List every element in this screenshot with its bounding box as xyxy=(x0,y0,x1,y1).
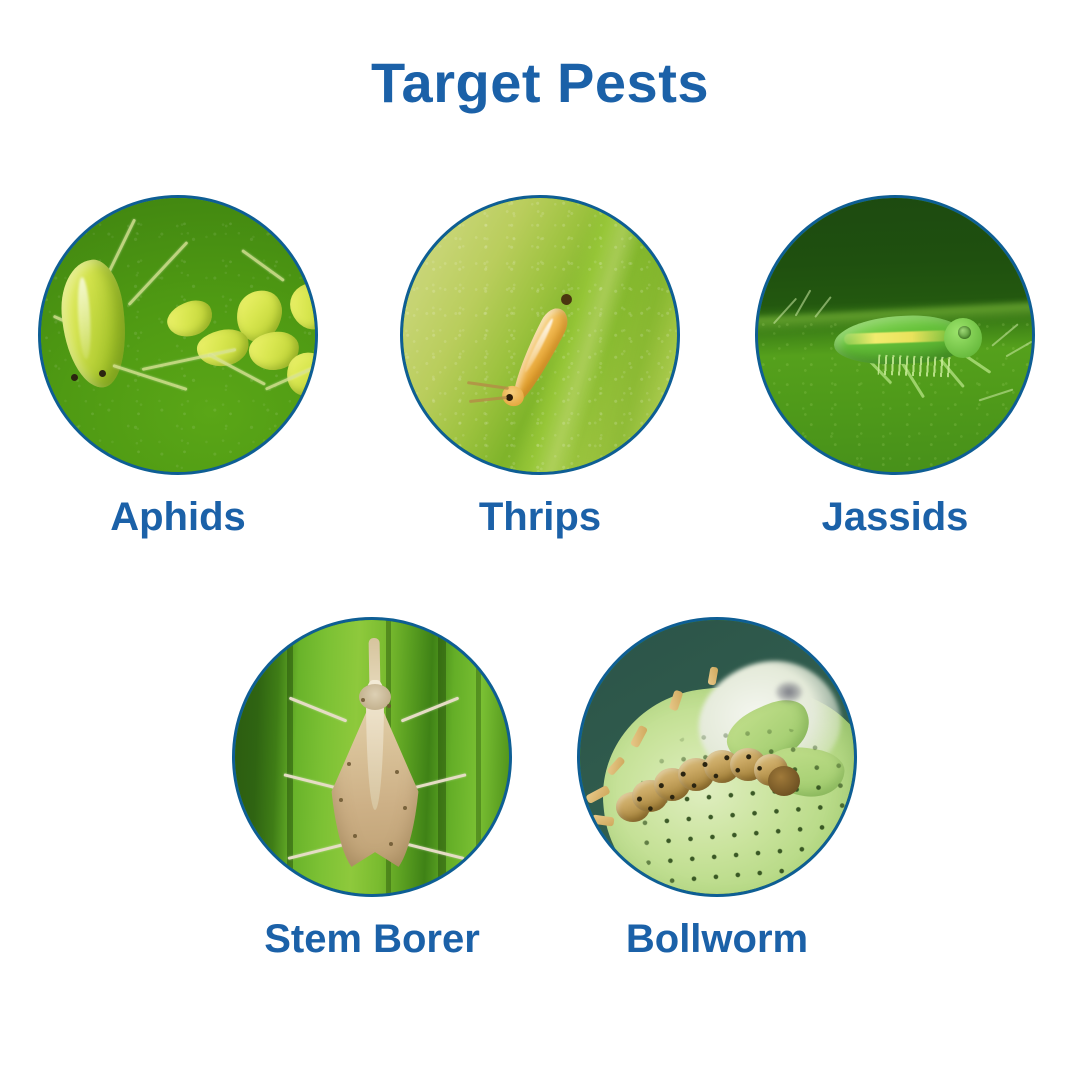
pest-card-thrips[interactable]: Thrips xyxy=(400,195,680,539)
stem-borer-photo-inner xyxy=(235,620,509,894)
moth-wing-spot xyxy=(403,806,407,810)
pest-card-jassids[interactable]: Jassids xyxy=(755,195,1035,539)
aphids-photo-inner xyxy=(41,198,315,472)
moth-wing-spot xyxy=(389,842,393,846)
moth-wing-spot xyxy=(347,762,351,766)
aphids-photo[interactable] xyxy=(38,195,318,475)
target-pests-infographic: Target Pests xyxy=(0,0,1080,1080)
cotton-boll-blemish xyxy=(776,682,802,702)
pest-label-aphids: Aphids xyxy=(38,495,318,539)
pest-label-thrips: Thrips xyxy=(400,495,680,539)
moth-wing-spot xyxy=(353,834,357,838)
thrips-photo[interactable] xyxy=(400,195,680,475)
pest-label-jassids: Jassids xyxy=(755,495,1035,539)
aphid-eye xyxy=(71,374,78,381)
leafhopper-eye xyxy=(958,326,971,339)
stem-borer-photo[interactable] xyxy=(232,617,512,897)
bollworm-photo-inner xyxy=(580,620,854,894)
pest-label-stem-borer: Stem Borer xyxy=(232,917,512,961)
moth-wing-spot xyxy=(395,770,399,774)
pest-label-bollworm: Bollworm xyxy=(577,917,857,961)
grass-blade-edge xyxy=(287,620,293,894)
thrips-photo-inner xyxy=(403,198,677,472)
moth-wing-spot xyxy=(361,698,365,702)
jassids-photo-inner xyxy=(758,198,1032,472)
pest-card-aphids[interactable]: Aphids xyxy=(38,195,318,539)
moth-wing-spot xyxy=(339,798,343,802)
leafhopper-tibial-spines xyxy=(878,355,955,378)
pest-card-bollworm[interactable]: Bollworm xyxy=(577,617,857,961)
bollworm-photo[interactable] xyxy=(577,617,857,897)
grass-blade-edge xyxy=(476,620,481,894)
page-title: Target Pests xyxy=(0,52,1080,114)
aphid-eye xyxy=(99,370,106,377)
moth-wing-spot xyxy=(387,704,391,708)
caterpillar-spots xyxy=(614,728,796,824)
pest-card-stem-borer[interactable]: Stem Borer xyxy=(232,617,512,961)
bollworm-caterpillar xyxy=(614,728,796,824)
thrips-eye xyxy=(506,394,513,401)
jassids-photo[interactable] xyxy=(755,195,1035,475)
